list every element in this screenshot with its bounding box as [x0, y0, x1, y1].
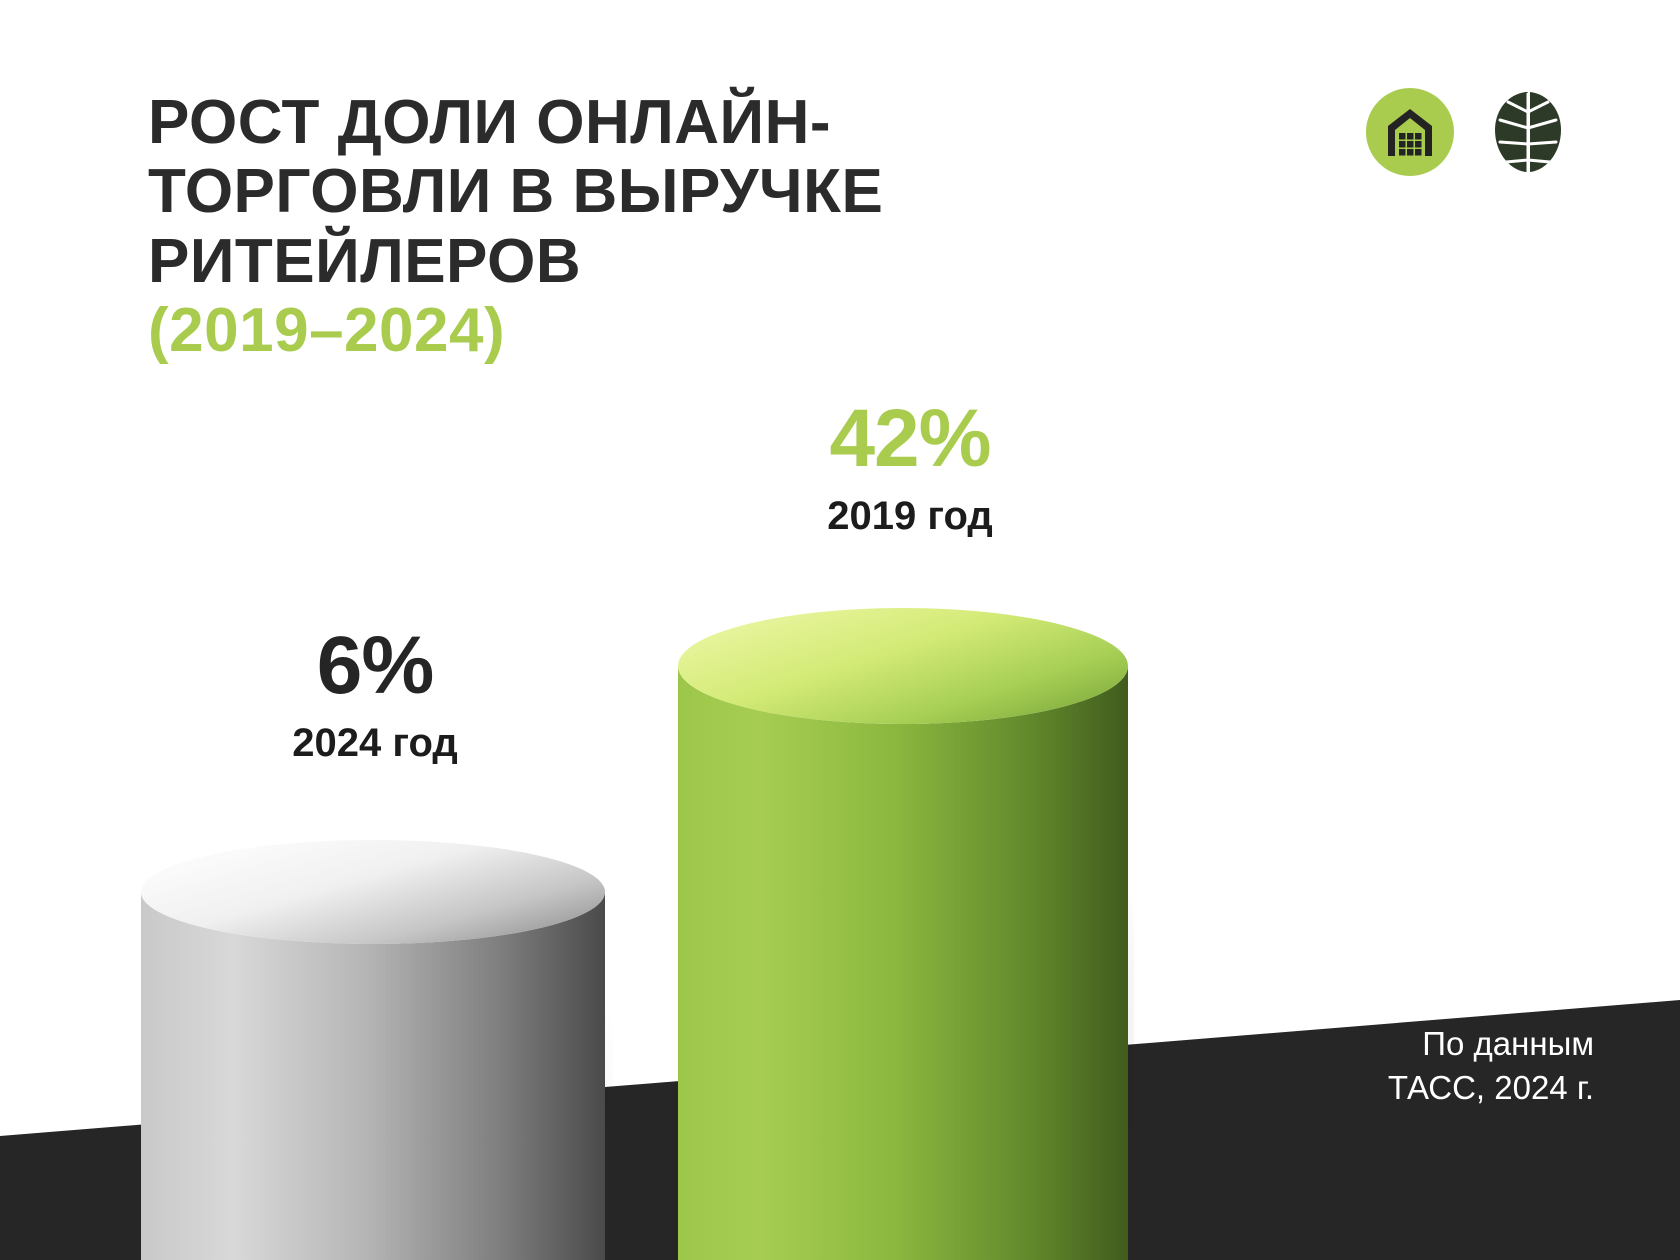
- logo-group: [1366, 88, 1568, 176]
- leaf-icon: [1492, 90, 1564, 174]
- title-line-1: РОСТ ДОЛИ ОНЛАЙН-: [148, 88, 1048, 157]
- source-note: По данным ТАСС, 2024 г.: [1304, 1022, 1594, 1110]
- value-block-2019: 42% 2019 год: [760, 398, 1060, 536]
- warehouse-icon: [1383, 107, 1437, 157]
- title-subtitle-years: (2019–2024): [148, 296, 1048, 365]
- title-line-3: РИТЕЙЛЕРОВ: [148, 227, 1048, 296]
- warehouse-logo-badge: [1366, 88, 1454, 176]
- source-line-1: По данным: [1304, 1022, 1594, 1066]
- source-line-2: ТАСС, 2024 г.: [1304, 1066, 1594, 1110]
- leaf-logo-badge: [1488, 88, 1568, 176]
- bar-cylinder-2019: [672, 608, 1134, 1260]
- title-line-2: ТОРГОВЛИ В ВЫРУЧКЕ: [148, 157, 1048, 226]
- value-block-2024: 6% 2024 год: [225, 625, 525, 763]
- page-title: РОСТ ДОЛИ ОНЛАЙН- ТОРГОВЛИ В ВЫРУЧКЕ РИТ…: [148, 88, 1048, 366]
- value-2019: 42%: [760, 398, 1060, 480]
- value-2024: 6%: [225, 625, 525, 707]
- bar-cylinder-2024: [133, 840, 613, 1260]
- value-label-2024: 2024 год: [225, 723, 525, 763]
- value-label-2019: 2019 год: [760, 496, 1060, 536]
- infographic-canvas: РОСТ ДОЛИ ОНЛАЙН- ТОРГОВЛИ В ВЫРУЧКЕ РИТ…: [0, 0, 1680, 1260]
